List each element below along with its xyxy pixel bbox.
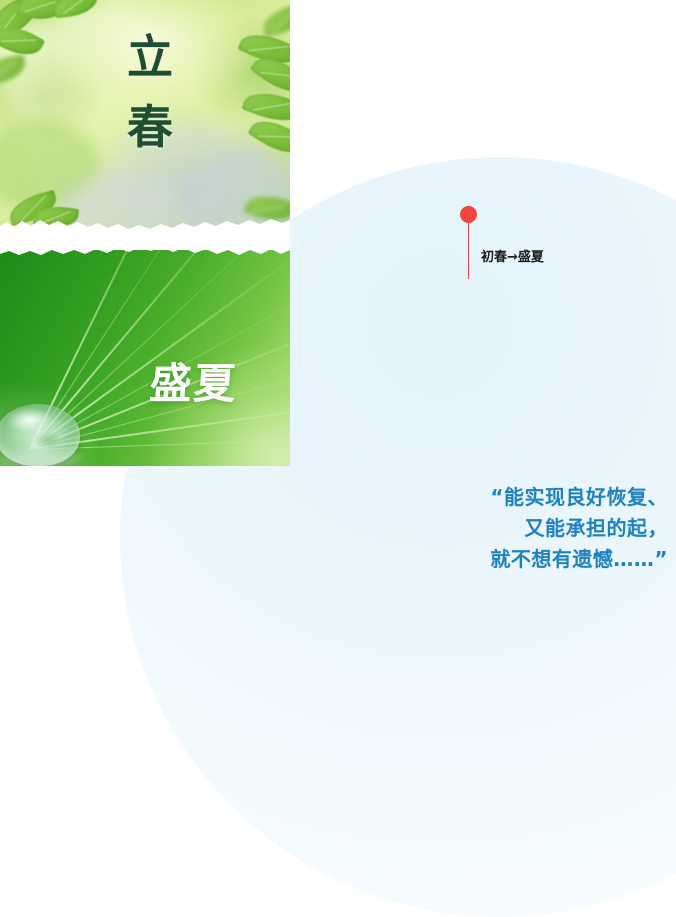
marker-stem [468, 222, 469, 279]
marker-label: 初春→盛夏 [481, 246, 544, 265]
water-droplet [0, 404, 80, 466]
spring-photo: 立春 [0, 0, 290, 238]
spring-title: 立春 [118, 22, 182, 162]
quote-line-3: 就不想有遗憾……” [468, 544, 668, 575]
photo-card: 立春 盛夏 [0, 0, 290, 466]
torn-paper-divider [0, 216, 290, 260]
map-marker-pin[interactable] [460, 206, 477, 223]
summer-title: 盛夏 [148, 350, 240, 411]
summer-photo: 盛夏 [0, 250, 290, 466]
quote-line-2: 又能承担的起， [468, 513, 668, 544]
quote-text: “能实现良好恢复、 又能承担的起， 就不想有遗憾……” [468, 482, 668, 575]
leaf [260, 3, 290, 37]
marker-dot-icon [460, 206, 477, 223]
quote-line-1: “能实现良好恢复、 [468, 482, 668, 513]
